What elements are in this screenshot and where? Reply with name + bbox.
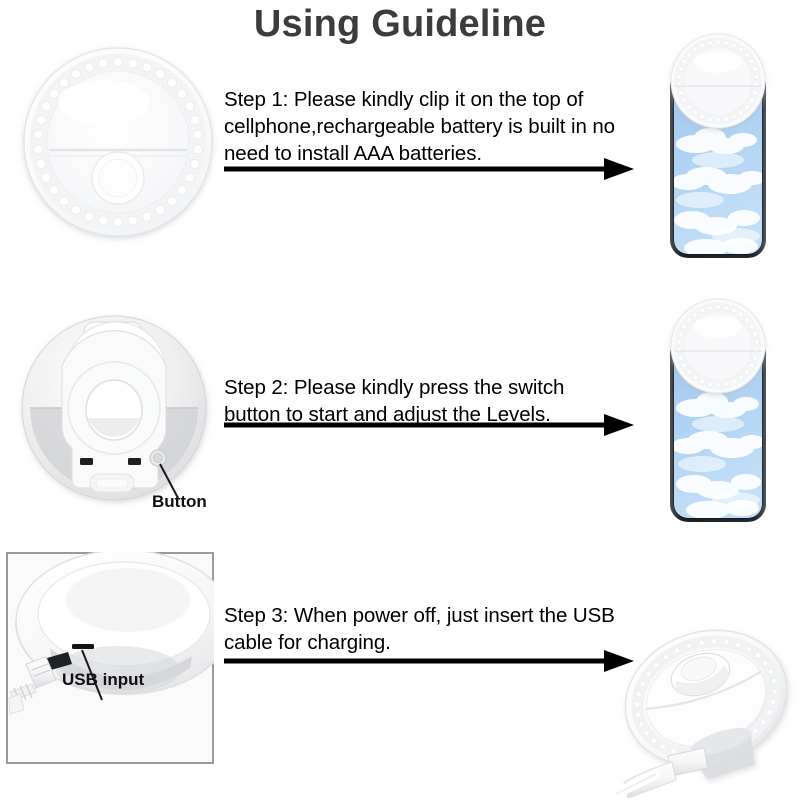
smartphone-with-ring-light-clipped (648, 296, 788, 536)
usb-port-slot (72, 644, 94, 649)
usb-callout-label: USB input (62, 670, 144, 690)
step-3-arrow (222, 648, 634, 674)
contact-pad-left (80, 458, 93, 465)
ring-light-front-view (18, 38, 218, 246)
guideline-page: Using Guideline (0, 0, 800, 800)
button-callout-label: Button (152, 492, 207, 512)
ring-light-clipped (671, 299, 765, 393)
usb-charging-photo (6, 552, 214, 764)
step-2-arrow (222, 412, 634, 438)
ring-light-with-cable (616, 598, 800, 798)
ring-light-back-view (18, 308, 218, 508)
ring-light-clipped (671, 34, 765, 128)
contact-pad-right (128, 458, 141, 465)
step-1-arrow (222, 156, 634, 182)
smartphone-with-ring-light-clipped (648, 24, 788, 274)
step-1-text: Step 1: Please kindly clip it on the top… (224, 86, 624, 167)
